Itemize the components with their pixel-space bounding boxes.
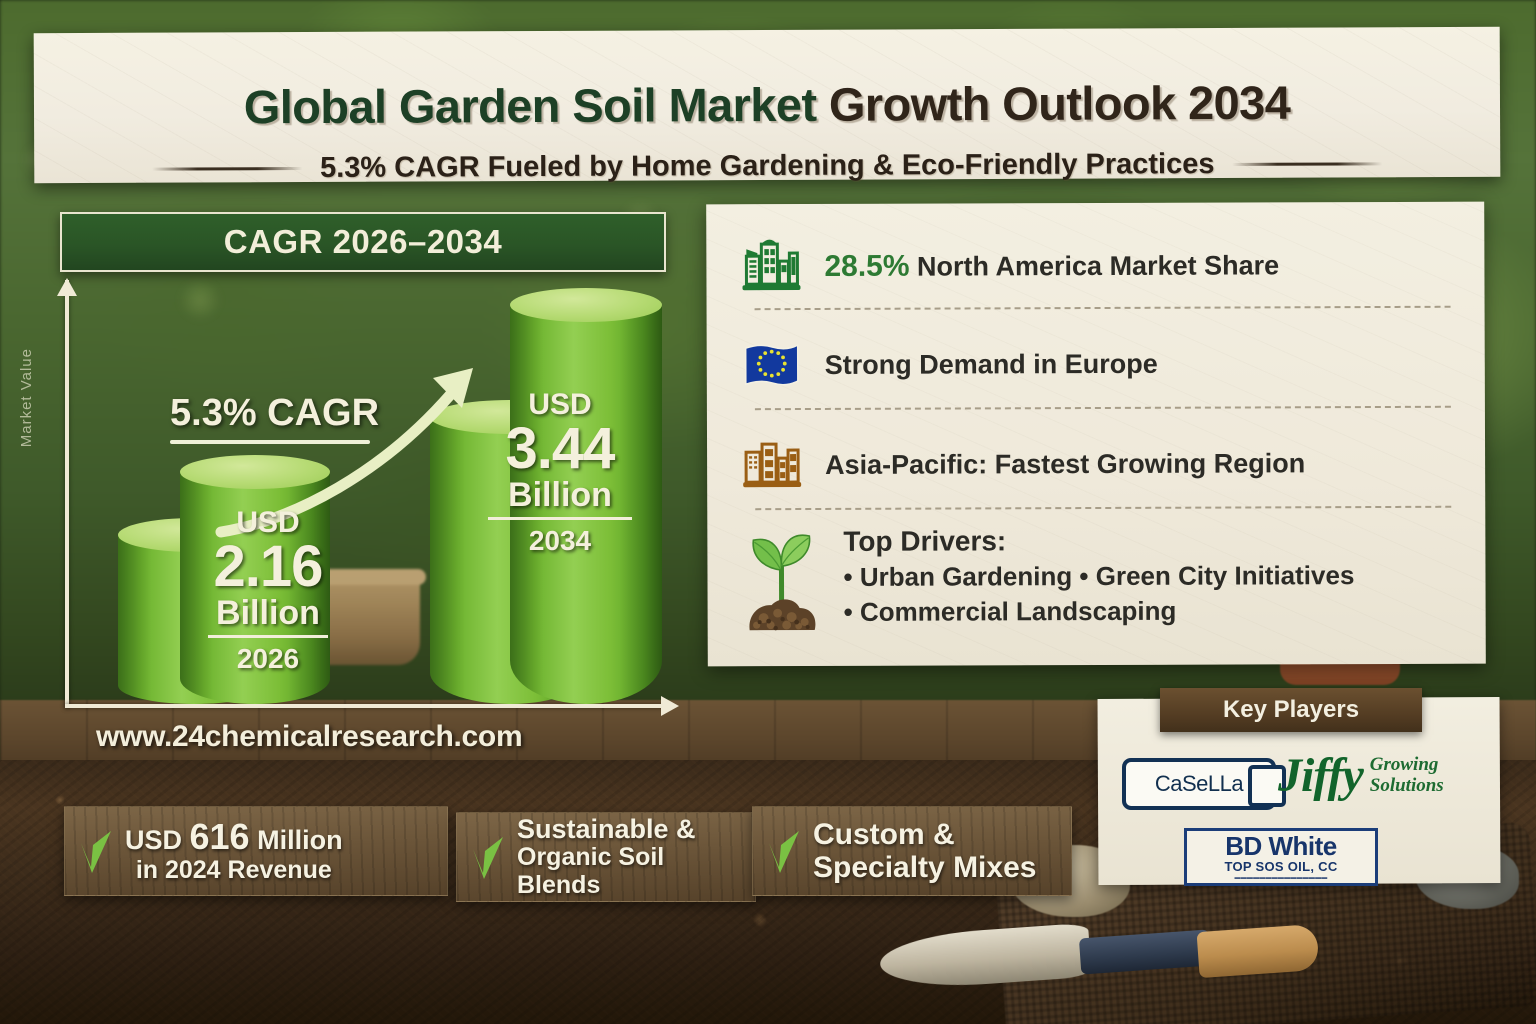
key-players-title: Key Players — [1223, 696, 1359, 724]
casella-logo-text: CaSeLLa — [1155, 771, 1243, 797]
key-players-header: Key Players — [1160, 688, 1422, 732]
check-icon — [79, 829, 113, 873]
sustainable-line-2: Organic Soil Blends — [517, 844, 739, 899]
check-icon — [767, 829, 801, 873]
bottom-banner-custom-text: Custom & Specialty Mixes — [813, 818, 1036, 884]
jiffy-logo-brand: Jiffy — [1278, 748, 1363, 803]
bottom-banner-sustainable-text: Sustainable & Organic Soil Blends — [517, 815, 739, 900]
top-drivers-block: Top Drivers: • Urban Gardening • Green C… — [843, 524, 1354, 628]
page-subtitle: 5.3% CAGR Fueled by Home Gardening & Eco… — [320, 148, 1215, 185]
info-row-north-america: 28.5% North America Market Share — [740, 234, 1279, 298]
sustainable-line-1: Sustainable & — [517, 815, 739, 845]
top-drivers-line-1: • Urban Gardening • Green City Initiativ… — [843, 560, 1354, 593]
top-drivers-line-2: • Commercial Landscaping — [844, 595, 1355, 628]
revenue-subline: in 2024 Revenue — [125, 857, 343, 885]
page-title-brown: Growth Outlook 2034 — [829, 76, 1291, 131]
bd-white-line-1: BD White — [1225, 833, 1337, 859]
bottom-banner-revenue-text: USD 616 Million in 2024 Revenue — [125, 817, 343, 884]
bar-chart: Market Value — [40, 280, 700, 730]
divider-2 — [755, 406, 1451, 410]
bar-2026-year: 2026 — [208, 635, 328, 673]
info-panel: 28.5% North America Market Share S — [706, 202, 1486, 667]
jiffy-logo-tagline: Growing Solutions — [1370, 755, 1444, 795]
brown-city-buildings-icon — [741, 434, 803, 496]
bar-2034-value: 3.44 — [488, 420, 632, 478]
subtitle-row: 5.3% CAGR Fueled by Home Gardening & Eco… — [34, 147, 1500, 186]
infographic-canvas: Global Garden Soil Market Growth Outlook… — [0, 0, 1536, 1024]
header-panel: Global Garden Soil Market Growth Outlook… — [34, 27, 1501, 183]
jiffy-tagline-line-2: Solutions — [1370, 775, 1444, 796]
chart-y-axis — [65, 280, 69, 708]
casella-logo[interactable]: CaSeLLa — [1122, 758, 1276, 810]
divider-1 — [755, 306, 1451, 310]
jiffy-logo[interactable]: Jiffy Growing Solutions — [1278, 748, 1444, 803]
north-america-share-value: 28.5% — [824, 250, 909, 283]
bar-2034-year: 2034 — [488, 517, 632, 555]
page-title: Global Garden Soil Market Growth Outlook… — [34, 74, 1500, 135]
top-drivers-title: Top Drivers: — [843, 524, 1354, 558]
bar-2026-unit: Billion — [208, 596, 328, 630]
bar-2034-unit: Billion — [488, 478, 632, 512]
cagr-annotation: 5.3% CAGR — [170, 392, 379, 444]
website-url[interactable]: www.24chemicalresearch.com — [96, 720, 522, 754]
bd-white-line-2: TOP SOS OIL, CC — [1224, 859, 1337, 875]
rule-left — [152, 167, 302, 171]
cagr-banner-label: CAGR 2026–2034 — [224, 223, 503, 261]
eu-flag-icon — [741, 334, 803, 396]
page-title-green: Global Garden Soil Market — [244, 78, 817, 133]
garden-trowel-handle-icon — [1197, 924, 1320, 978]
chart-x-axis — [65, 704, 665, 708]
cagr-annotation-text: 5.3% CAGR — [170, 392, 379, 435]
revenue-prefix: USD — [125, 825, 190, 855]
cagr-banner: CAGR 2026–2034 — [60, 212, 666, 272]
bar-2034-label: USD 3.44 Billion 2034 — [488, 390, 632, 555]
divider-3 — [755, 506, 1451, 510]
info-row-asia-pacific-text: Asia-Pacific: Fastest Growing Region — [825, 448, 1305, 481]
green-city-buildings-icon — [740, 236, 802, 298]
info-row-north-america-text: 28.5% North America Market Share — [824, 248, 1279, 284]
bar-2026-value: 2.16 — [208, 538, 328, 596]
north-america-share-label: North America Market Share — [909, 250, 1279, 281]
seedling-soil-icon — [741, 526, 821, 638]
bottom-banner-sustainable: Sustainable & Organic Soil Blends — [456, 812, 756, 902]
chart-y-axis-label: Market Value — [18, 348, 35, 447]
info-row-europe-text: Strong Demand in Europe — [825, 348, 1158, 380]
check-icon — [471, 835, 505, 879]
cagr-underline — [170, 440, 370, 444]
bottom-banner-revenue: USD 616 Million in 2024 Revenue — [64, 806, 448, 896]
revenue-value: 616 — [190, 816, 250, 857]
revenue-suffix: Million — [250, 825, 343, 855]
rule-right — [1232, 162, 1382, 166]
bottom-banner-custom: Custom & Specialty Mixes — [752, 806, 1072, 896]
custom-line-1: Custom & — [813, 818, 1036, 851]
jiffy-tagline-line-1: Growing — [1370, 754, 1439, 775]
info-row-asia-pacific: Asia-Pacific: Fastest Growing Region — [741, 432, 1305, 496]
info-row-europe: Strong Demand in Europe — [741, 333, 1158, 396]
info-row-top-drivers: Top Drivers: • Urban Gardening • Green C… — [741, 524, 1354, 638]
bd-white-logo[interactable]: BD White TOP SOS OIL, CC ▬▬▬▬▬▬▬▬▬▬▬▬▬▬▬ — [1184, 828, 1378, 886]
custom-line-2: Specialty Mixes — [813, 851, 1036, 884]
bar-2026-label: USD 2.16 Billion 2026 — [208, 508, 328, 673]
bd-white-line-3: ▬▬▬▬▬▬▬▬▬▬▬▬▬▬▬ — [1235, 875, 1328, 881]
